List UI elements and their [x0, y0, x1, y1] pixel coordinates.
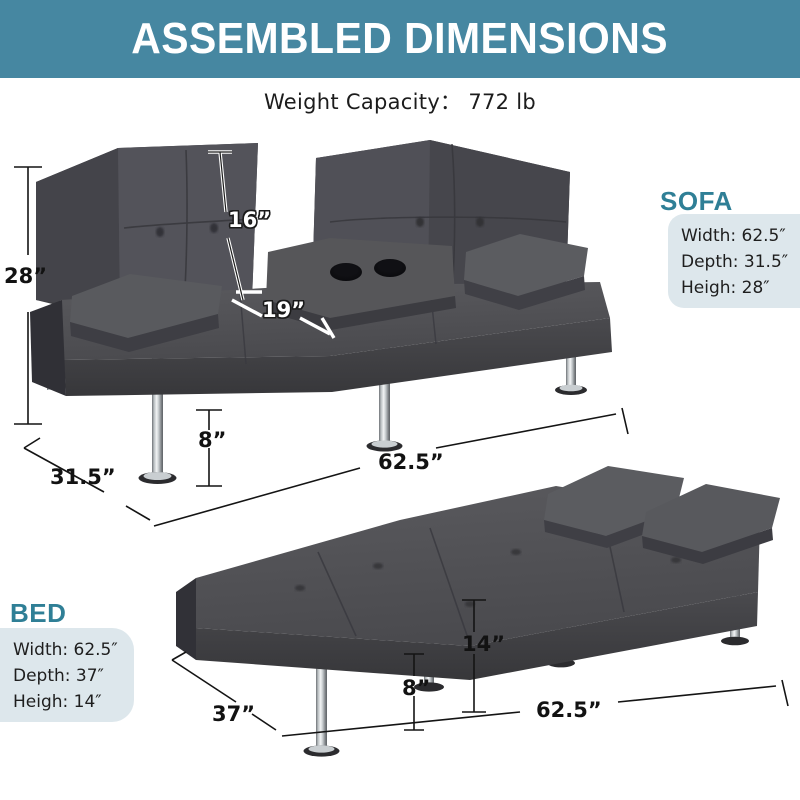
- sofa-spec-depth: Depth: 31.5″: [681, 250, 787, 276]
- sofa-legs: [47, 340, 587, 484]
- sofa-spec-height: Heigh: 28″: [681, 276, 787, 302]
- bed-heading: BED: [10, 598, 66, 629]
- page-title: ASSEMBLED DIMENSIONS: [132, 14, 669, 64]
- sofa-width-label: 62.5”: [378, 450, 444, 474]
- bed-spec-width: Width: 62.5″: [13, 638, 121, 664]
- sofa-leg-label: 8”: [198, 428, 226, 452]
- sofa-depth-label: 31.5”: [50, 465, 116, 489]
- bed-spec-height: Heigh: 14″: [13, 690, 121, 716]
- bed-legs: [213, 588, 749, 757]
- bed-illustration: [176, 466, 780, 757]
- sofa-height-label: 28”: [4, 264, 47, 288]
- header-banner: ASSEMBLED DIMENSIONS: [0, 0, 800, 78]
- sofa-heading: SOFA: [660, 186, 733, 217]
- sofa-seatback-label: 16”: [228, 208, 271, 232]
- infographic-page: ASSEMBLED DIMENSIONS Weight Capacity： 77…: [0, 0, 800, 800]
- bed-leg-label: 8”: [402, 676, 430, 700]
- bed-width-label: 62.5”: [536, 698, 602, 722]
- sofa-spec-width: Width: 62.5″: [681, 224, 787, 250]
- bed-depth-label: 37”: [212, 702, 255, 726]
- bed-height-label: 14”: [462, 632, 505, 656]
- bed-spec-depth: Depth: 37″: [13, 664, 121, 690]
- bed-spec-box: Width: 62.5″ Depth: 37″ Heigh: 14″: [0, 628, 134, 722]
- sofa-spec-box: Width: 62.5″ Depth: 31.5″ Heigh: 28″: [668, 214, 800, 308]
- sofa-illustration: [30, 140, 612, 484]
- sofa-seatdepth-label: 19”: [262, 298, 305, 322]
- weight-capacity-text: Weight Capacity： 772 lb: [0, 86, 800, 116]
